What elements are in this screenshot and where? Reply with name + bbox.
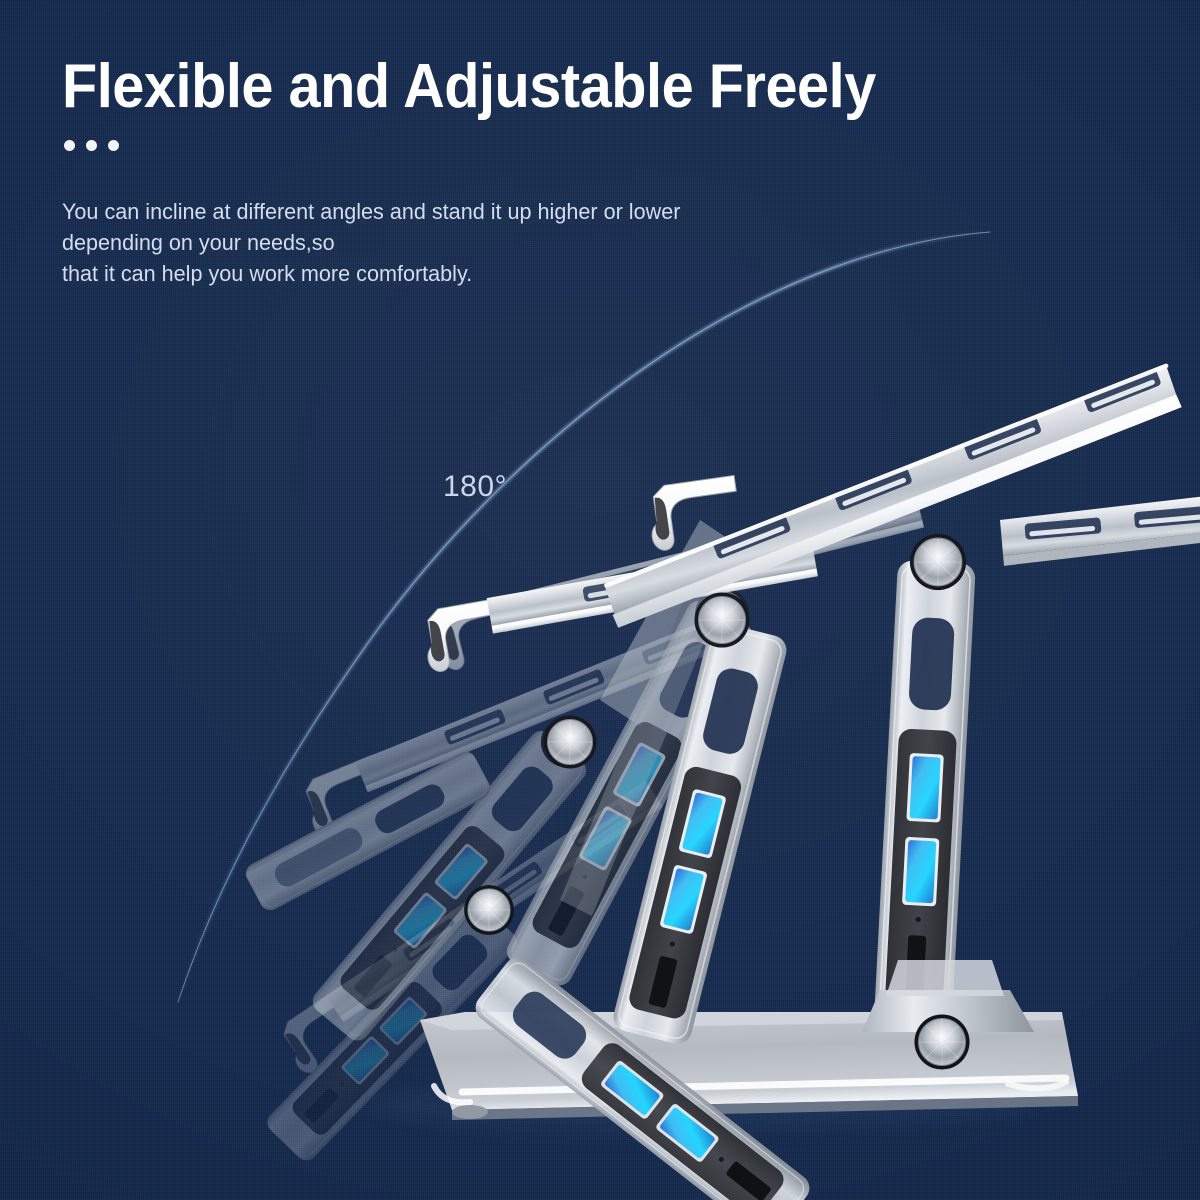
pivot-hinge-lower-left: [464, 885, 514, 935]
page-title: Flexible and Adjustable Freely: [62, 52, 876, 122]
ellipsis-dots: [64, 140, 119, 151]
ellipsis-dot: [64, 140, 75, 151]
angle-label: 180°: [443, 470, 507, 504]
pivot-hinge-top-right: [910, 534, 966, 590]
pivot-hinge-mid-left: [544, 716, 597, 769]
top-plate-extension: [999, 496, 1200, 566]
marketing-banner: Flexible and Adjustable Freely You can i…: [0, 0, 1200, 1200]
body-copy: You can incline at different angles and …: [62, 196, 680, 289]
pivot-hinge-center: [694, 592, 749, 647]
pivot-hinge-base: [914, 1014, 969, 1069]
ellipsis-dot: [86, 140, 97, 151]
ellipsis-dot: [108, 140, 119, 151]
header-text-block: Flexible and Adjustable Freely You can i…: [0, 0, 1200, 320]
